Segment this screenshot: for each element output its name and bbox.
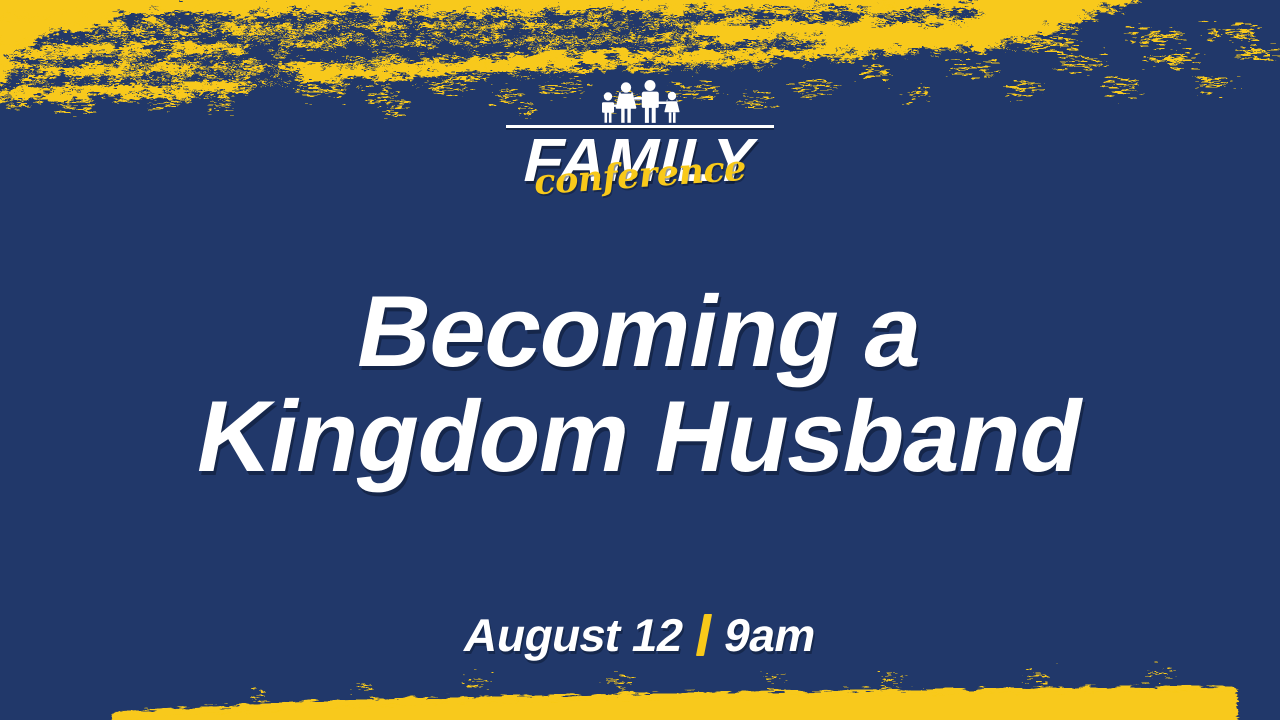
title-line-1: Becoming a <box>0 283 1280 382</box>
event-title-slide: FAMILY conference Becoming a Kingdom Hus… <box>0 0 1280 720</box>
family-wordmark-group: FAMILY conference <box>500 129 780 195</box>
family-silhouette-icon <box>592 78 688 124</box>
event-time: 9am <box>719 608 820 662</box>
title-line-2: Kingdom Husband <box>0 388 1280 487</box>
event-date: August 12 <box>460 608 688 662</box>
event-date-time: August 12 9am <box>0 608 1280 662</box>
meta-separator-bar <box>696 614 712 656</box>
family-conference-logo: FAMILY conference <box>0 78 1280 200</box>
slide-title: Becoming a Kingdom Husband <box>0 283 1280 487</box>
